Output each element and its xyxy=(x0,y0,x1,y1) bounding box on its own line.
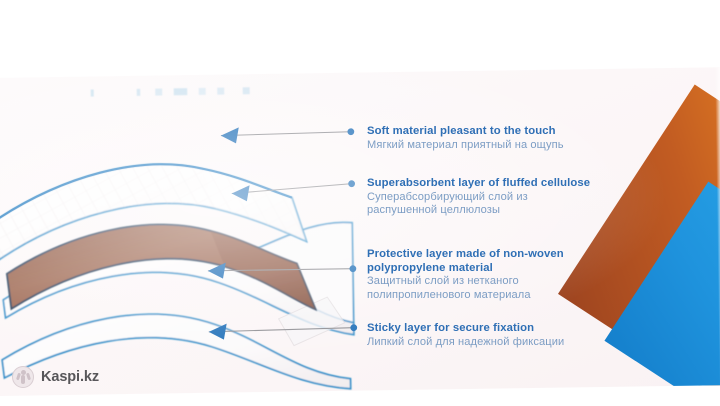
kaspi-watermark: Kaspi.kz xyxy=(12,366,99,388)
product-package-photo xyxy=(0,67,720,396)
kaspi-person-circle-icon xyxy=(12,366,34,388)
callout-russian-line: полипропиленового материала xyxy=(367,289,564,303)
screenshot-canvas: Soft material pleasant to the touch Мягк… xyxy=(0,0,720,406)
callout-english-line: polypropylene material xyxy=(367,262,564,276)
callout-russian-line: распушенной целлюлозы xyxy=(367,204,590,218)
callout-russian-line: Суперабсорбирующий слой из xyxy=(367,191,590,205)
callout-russian-line: Липкий слой для надежной фиксации xyxy=(367,336,564,350)
callout-soft-material: Soft material pleasant to the touch Мягк… xyxy=(367,125,564,152)
callout-russian-line: Защитный слой из нетканого xyxy=(367,275,564,289)
callout-superabsorbent-layer: Superabsorbent layer of fluffed cellulos… xyxy=(367,177,590,218)
callout-protective-layer: Protective layer made of non-woven polyp… xyxy=(367,248,564,302)
callout-english-line: Soft material pleasant to the touch xyxy=(367,125,564,139)
callout-english-line: Protective layer made of non-woven xyxy=(367,248,564,262)
callout-english-line: Superabsorbent layer of fluffed cellulos… xyxy=(367,177,590,191)
callout-english-line: Sticky layer for secure fixation xyxy=(367,322,564,336)
exploded-layers-illustration xyxy=(0,67,720,396)
watermark-label: Kaspi.kz xyxy=(41,369,99,385)
callout-sticky-layer: Sticky layer for secure fixation Липкий … xyxy=(367,322,564,349)
callout-russian-line: Мягкий материал приятный на ощупь xyxy=(367,139,564,153)
